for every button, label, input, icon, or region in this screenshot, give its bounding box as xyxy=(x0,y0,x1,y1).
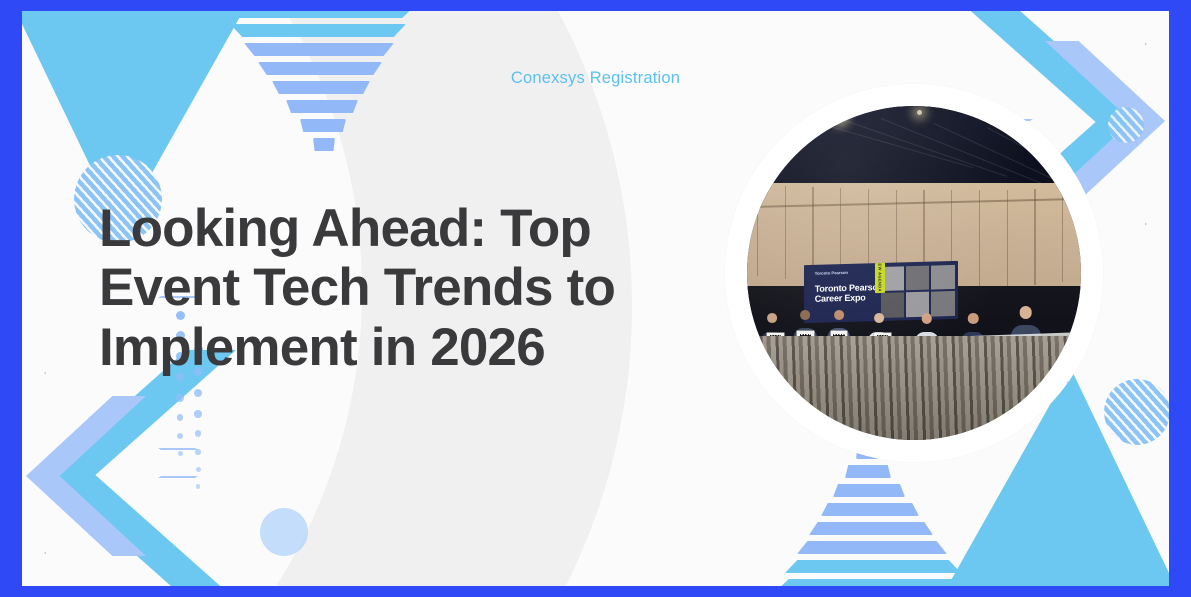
top-left-triangle-outline-icon xyxy=(22,11,266,225)
venue-banner-logo: Toronto Pearson xyxy=(815,270,848,276)
bottom-left-chevron-icon xyxy=(22,350,242,586)
banner-vertical-tag: NEW AGENDA xyxy=(874,261,884,294)
hero-photo: Toronto PearsonToronto Pearson Career Ex… xyxy=(747,106,1081,440)
page-kicker: Conexsys Registration xyxy=(22,69,1169,88)
banner-photo-collage xyxy=(881,264,955,317)
top-left-triangle-icon xyxy=(22,11,250,229)
photo-floor xyxy=(747,336,1081,440)
blog-header-card: Conexsys Registration Looking Ahead: Top… xyxy=(0,0,1191,597)
striped-circle-icon-right xyxy=(1104,379,1169,445)
card-stage: Conexsys Registration Looking Ahead: Top… xyxy=(22,11,1169,586)
plain-circle-icon-bottom xyxy=(260,508,308,556)
top-left-stripes-icon xyxy=(218,11,418,165)
venue-banner-title: Toronto Pearson Career Expo xyxy=(815,282,883,304)
page-title: Looking Ahead: Top Event Tech Trends to … xyxy=(99,199,719,379)
striped-circle-icon-top-right xyxy=(1108,107,1144,143)
